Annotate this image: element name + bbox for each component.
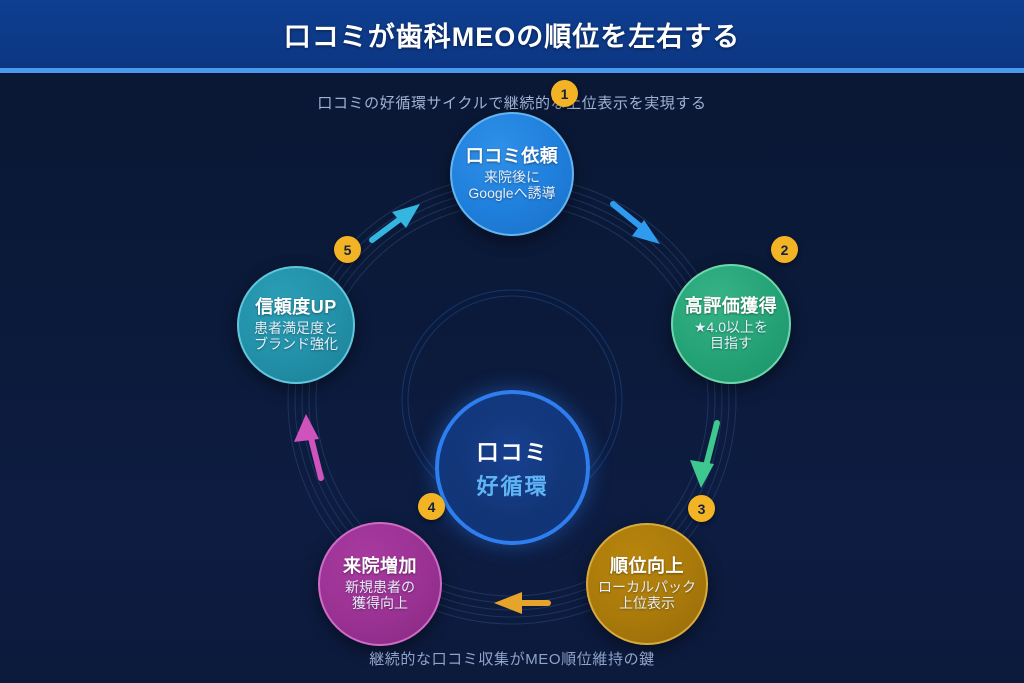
step-badge-2: 2 [771, 236, 798, 263]
cycle-diagram: 口コミ 好循環 口コミ依頼 来院後に Googleへ誘導 1 高評価獲得 ★4.… [0, 68, 1024, 683]
cycle-node-4-desc: 新規患者の 獲得向上 [345, 579, 415, 613]
arrow-1-to-2-icon [613, 204, 660, 244]
cycle-node-2-desc: ★4.0以上を 目指す [694, 319, 768, 353]
header-bar: 口コミが歯科MEOの順位を左右する [0, 0, 1024, 68]
cycle-node-1-desc: 来院後に Googleへ誘導 [468, 169, 555, 203]
step-badge-3: 3 [688, 495, 715, 522]
arrow-2-to-3-icon [690, 423, 717, 488]
cycle-node-1[interactable]: 口コミ依頼 来院後に Googleへ誘導 [450, 112, 574, 236]
cycle-node-5-desc: 患者満足度と ブランド強化 [254, 320, 338, 354]
step-badge-4: 4 [418, 493, 445, 520]
center-hub: 口コミ 好循環 [435, 390, 590, 545]
cycle-node-4[interactable]: 来院増加 新規患者の 獲得向上 [318, 522, 442, 646]
center-hub-line2: 好循環 [476, 469, 548, 501]
cycle-node-1-title: 口コミ依頼 [466, 146, 559, 167]
cycle-node-3-desc: ローカルパック 上位表示 [598, 579, 696, 613]
cycle-node-3-title: 順位向上 [610, 556, 684, 577]
arrow-3-to-4-icon [494, 592, 548, 614]
arrow-4-to-5-icon [294, 414, 321, 478]
cycle-node-3[interactable]: 順位向上 ローカルパック 上位表示 [586, 523, 708, 645]
cycle-node-2[interactable]: 高評価獲得 ★4.0以上を 目指す [671, 264, 791, 384]
step-badge-5: 5 [334, 236, 361, 263]
page-title: 口コミが歯科MEOの順位を左右する [284, 15, 741, 54]
cycle-node-4-title: 来院増加 [343, 556, 417, 577]
arrow-5-to-1-icon [372, 204, 420, 240]
center-hub-line1: 口コミ [476, 435, 548, 467]
footer-note: 継続的な口コミ収集がMEO順位維持の鍵 [0, 648, 1024, 669]
cycle-node-5-title: 信頼度UP [255, 297, 337, 318]
slide-canvas: 口コミが歯科MEOの順位を左右する 口コミの好循環サイクルで継続的な上位表示を実… [0, 0, 1024, 683]
cycle-node-2-title: 高評価獲得 [685, 296, 778, 317]
step-badge-1: 1 [551, 80, 578, 107]
cycle-node-5[interactable]: 信頼度UP 患者満足度と ブランド強化 [237, 266, 355, 384]
